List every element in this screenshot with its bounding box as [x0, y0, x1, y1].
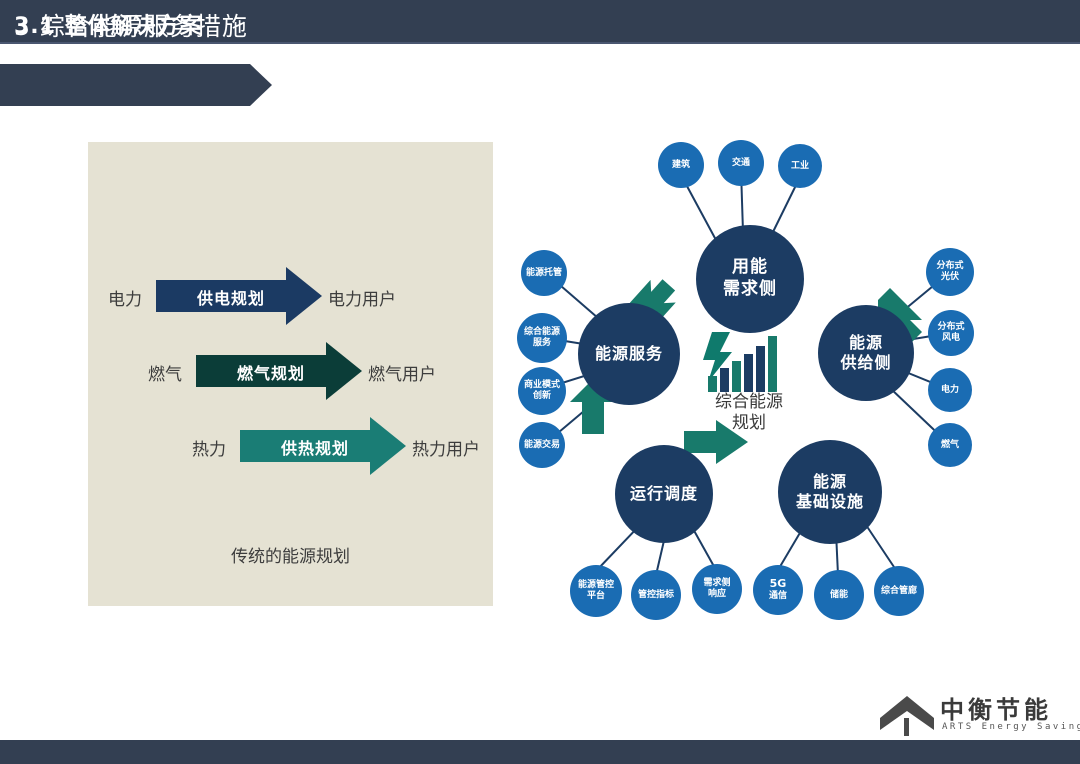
hub-demand-side[interactable]: 用能 需求侧: [696, 225, 804, 333]
section-banner-label: 3.1 整体解决方案: [14, 8, 203, 40]
hub-energy-infrastructure[interactable]: 能源 基础设施: [778, 440, 882, 544]
row-arrow-shape: 供电规划: [156, 267, 321, 325]
traditional-planning-panel: 电力 供电规划 电力用户 燃气 燃气规划 燃气用户 热力 供热规划 热力用户 传…: [88, 142, 493, 606]
row-arrow-shape: 燃气规划: [196, 342, 361, 400]
satellite-utility-corridor[interactable]: 综合管廊: [874, 566, 924, 616]
row-source-label: 电力: [108, 285, 142, 310]
hub-label-line1: 能源服务: [595, 344, 663, 364]
logo-chinese-name: 中衡节能: [940, 690, 1052, 725]
satellite-business-model-innovation[interactable]: 商业模式 创新: [518, 367, 566, 415]
satellite-label-line2: 平台: [578, 591, 614, 602]
satellite-label-line1: 能源管控: [578, 580, 614, 591]
planning-row-gas: 燃气 燃气规划 燃气用户: [88, 342, 493, 402]
hub-energy-service[interactable]: 能源服务: [578, 303, 680, 405]
hub-supply-side[interactable]: 能源 供给侧: [818, 305, 914, 401]
satellite-industry[interactable]: 工业: [778, 144, 822, 188]
hub-label-line1: 用能: [723, 257, 777, 279]
center-caption-line2: 规划: [679, 413, 819, 434]
row-target-label: 燃气用户: [368, 360, 436, 385]
hub-label-line1: 运行调度: [630, 484, 698, 504]
row-arrow-shape: 供热规划: [240, 417, 405, 475]
satellite-label-line1: 能源托管: [526, 268, 562, 279]
satellite-label-line2: 创新: [524, 391, 560, 402]
satellite-energy-trading[interactable]: 能源交易: [519, 422, 565, 468]
hub-label-line2: 供给侧: [840, 353, 891, 373]
satellite-label-line2: 光伏: [936, 272, 963, 283]
hub-label-line2: 需求侧: [723, 279, 777, 301]
satellite-label-line1: 分布式: [937, 322, 964, 333]
satellite-label-line1: 分布式: [936, 261, 963, 272]
row-plan-label: 燃气规划: [196, 360, 346, 384]
satellite-electric-power[interactable]: 电力: [928, 368, 972, 412]
satellite-label-line1: 商业模式: [524, 380, 560, 391]
satellite-label-line1: 交通: [732, 158, 750, 169]
row-plan-label: 供热规划: [240, 435, 390, 459]
satellite-label-line1: 综合管廊: [881, 586, 917, 597]
logo-english-name: ARTS Energy Saving: [942, 722, 1080, 732]
satellite-transport[interactable]: 交通: [718, 140, 764, 186]
hub-label-line1: 能源: [840, 333, 891, 353]
satellite-energy-storage[interactable]: 储能: [814, 570, 864, 620]
satellite-label-line1: 5G: [769, 578, 787, 591]
company-logo: 中衡节能 ARTS Energy Saving: [878, 690, 1068, 746]
panel-caption: 传统的能源规划: [88, 542, 493, 567]
satellite-label-line2: 通信: [769, 591, 787, 602]
satellite-label-line1: 工业: [791, 161, 809, 172]
page-footer-bar: [0, 740, 1080, 764]
planning-row-power: 电力 供电规划 电力用户: [88, 267, 493, 327]
row-plan-label: 供电规划: [156, 285, 306, 309]
roof-chevron-icon: [878, 692, 936, 740]
center-caption: 综合能源 规划: [679, 392, 819, 435]
row-source-label: 燃气: [148, 360, 182, 385]
lightning-bar-chart-icon: [690, 330, 810, 400]
satellite-label-line2: 服务: [524, 338, 560, 349]
section-banner: [0, 64, 250, 106]
row-source-label: 热力: [192, 435, 226, 460]
satellite-label-line2: 响应: [703, 589, 730, 600]
satellite-label-line1: 储能: [830, 590, 848, 601]
satellite-integrated-energy-service[interactable]: 综合能源 服务: [517, 313, 567, 363]
satellite-distributed-wind[interactable]: 分布式 风电: [928, 310, 974, 356]
satellite-label-line1: 综合能源: [524, 327, 560, 338]
satellite-natural-gas[interactable]: 燃气: [928, 423, 972, 467]
satellite-label-line1: 能源交易: [524, 440, 560, 451]
planning-row-heat: 热力 供热规划 热力用户: [88, 417, 493, 477]
hub-operation-dispatch[interactable]: 运行调度: [615, 445, 713, 543]
center-caption-line1: 综合能源: [679, 392, 819, 413]
satellite-distributed-pv[interactable]: 分布式 光伏: [926, 248, 974, 296]
row-target-label: 电力用户: [328, 285, 396, 310]
satellite-label-line1: 需求侧: [703, 578, 730, 589]
satellite-label-line1: 建筑: [672, 160, 690, 171]
satellite-control-kpi[interactable]: 管控指标: [631, 570, 681, 620]
satellite-energy-trusteeship[interactable]: 能源托管: [521, 250, 567, 296]
satellite-label-line1: 电力: [941, 385, 959, 396]
hub-label-line2: 基础设施: [796, 492, 864, 512]
satellite-energy-control-platform[interactable]: 能源管控 平台: [570, 565, 622, 617]
satellite-demand-response[interactable]: 需求侧 响应: [692, 564, 742, 614]
integrated-energy-diagram: 用能 需求侧 能源 供给侧 能源服务 运行调度 能源 基础设施 建筑 交通 工业: [498, 120, 1080, 640]
satellite-label-line1: 燃气: [941, 440, 959, 451]
row-target-label: 热力用户: [412, 435, 480, 460]
satellite-label-line1: 管控指标: [638, 590, 674, 601]
satellite-5g-communication[interactable]: 5G 通信: [753, 565, 803, 615]
hub-label-line1: 能源: [796, 472, 864, 492]
satellite-label-line2: 风电: [937, 333, 964, 344]
header-divider: [0, 42, 1080, 44]
satellite-building[interactable]: 建筑: [658, 142, 704, 188]
